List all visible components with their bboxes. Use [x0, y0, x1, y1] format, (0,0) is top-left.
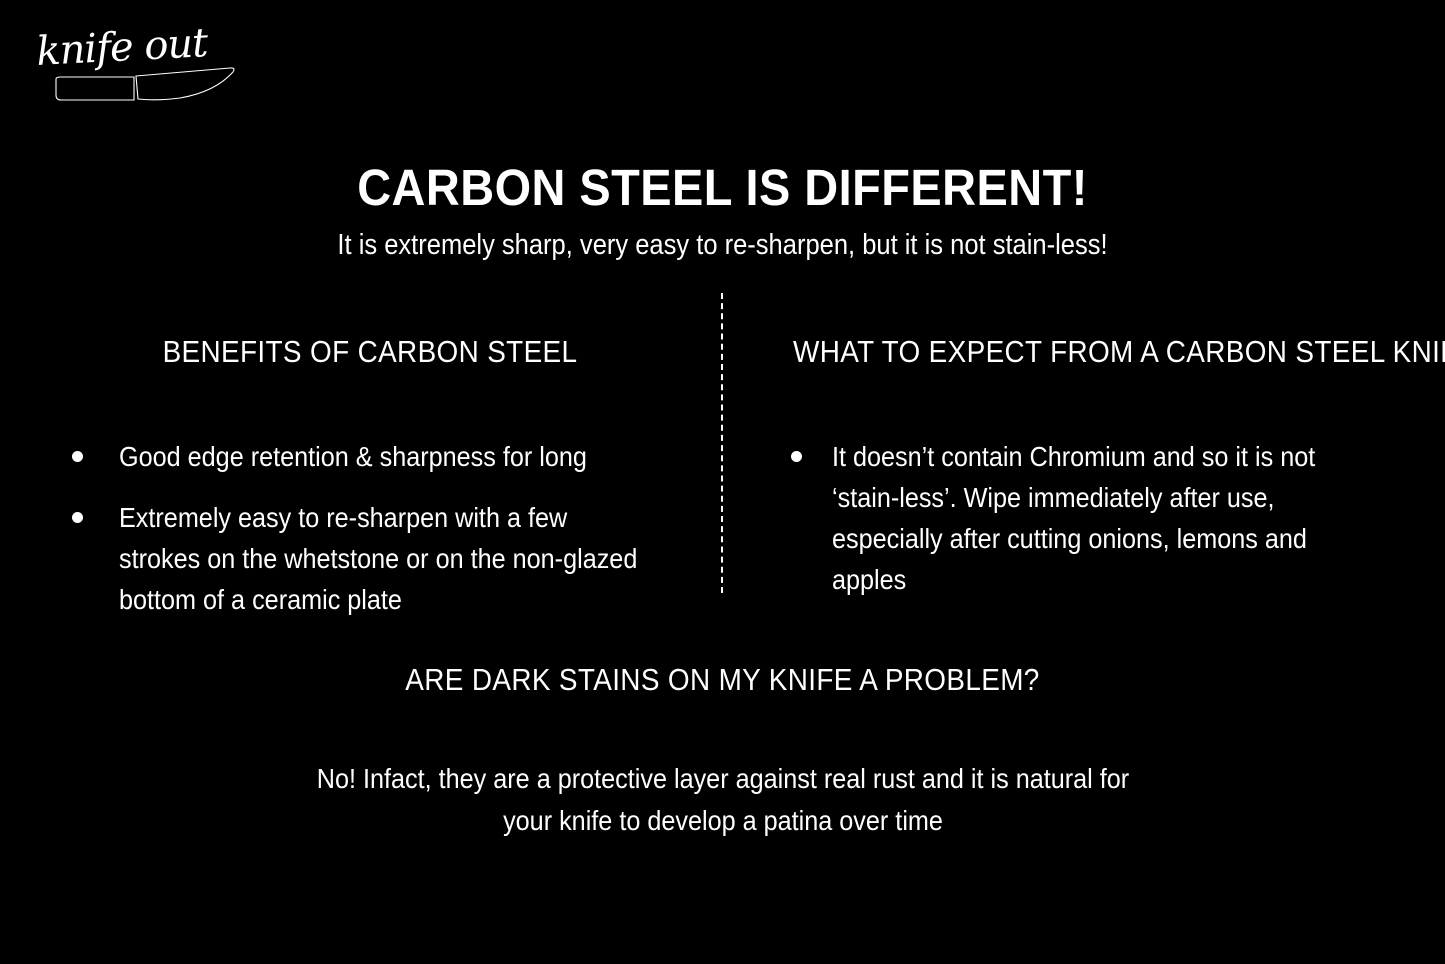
list-item: Extremely easy to re-sharpen with a few …: [40, 497, 700, 620]
expectations-column-heading: WHAT TO EXPECT FROM A CARBON STEEL KNIFE: [793, 330, 1387, 374]
benefits-bullet-list: Good edge retention & sharpness for long…: [40, 436, 700, 620]
bullet-dot-icon: [72, 451, 83, 462]
vertical-dashed-divider: [721, 293, 723, 593]
knife-outline-icon: [30, 22, 245, 110]
benefits-column-heading: BENEFITS OF CARBON STEEL: [73, 330, 667, 374]
answer-line: your knife to develop a patina over time: [273, 800, 1173, 842]
question-heading: ARE DARK STAINS ON MY KNIFE A PROBLEM?: [72, 658, 1373, 702]
page-title: CARBON STEEL IS DIFFERENT!: [58, 160, 1387, 216]
bullet-dot-icon: [72, 512, 83, 523]
answer-text: No! Infact, they are a protective layer …: [273, 758, 1173, 842]
brand-logo[interactable]: knife out: [30, 22, 245, 110]
benefits-column: BENEFITS OF CARBON STEEL Good edge reten…: [40, 330, 700, 640]
list-item: Good edge retention & sharpness for long: [40, 436, 700, 477]
expectations-bullet-list: It doesn’t contain Chromium and so it is…: [760, 436, 1420, 600]
list-item: It doesn’t contain Chromium and so it is…: [760, 436, 1420, 600]
question-answer-section: ARE DARK STAINS ON MY KNIFE A PROBLEM? N…: [0, 658, 1445, 842]
expectations-column: WHAT TO EXPECT FROM A CARBON STEEL KNIFE…: [760, 330, 1420, 620]
bullet-text: It doesn’t contain Chromium and so it is…: [832, 436, 1361, 600]
infographic-slide: knife out CARBON STEEL IS DIFFERENT! It …: [0, 0, 1445, 964]
headline-block: CARBON STEEL IS DIFFERENT! It is extreme…: [0, 160, 1445, 264]
bullet-text: Good edge retention & sharpness for long: [119, 436, 641, 477]
answer-line: No! Infact, they are a protective layer …: [273, 758, 1173, 800]
bullet-text: Extremely easy to re-sharpen with a few …: [119, 497, 641, 620]
bullet-dot-icon: [791, 451, 802, 462]
page-subtitle: It is extremely sharp, very easy to re-s…: [87, 226, 1359, 264]
